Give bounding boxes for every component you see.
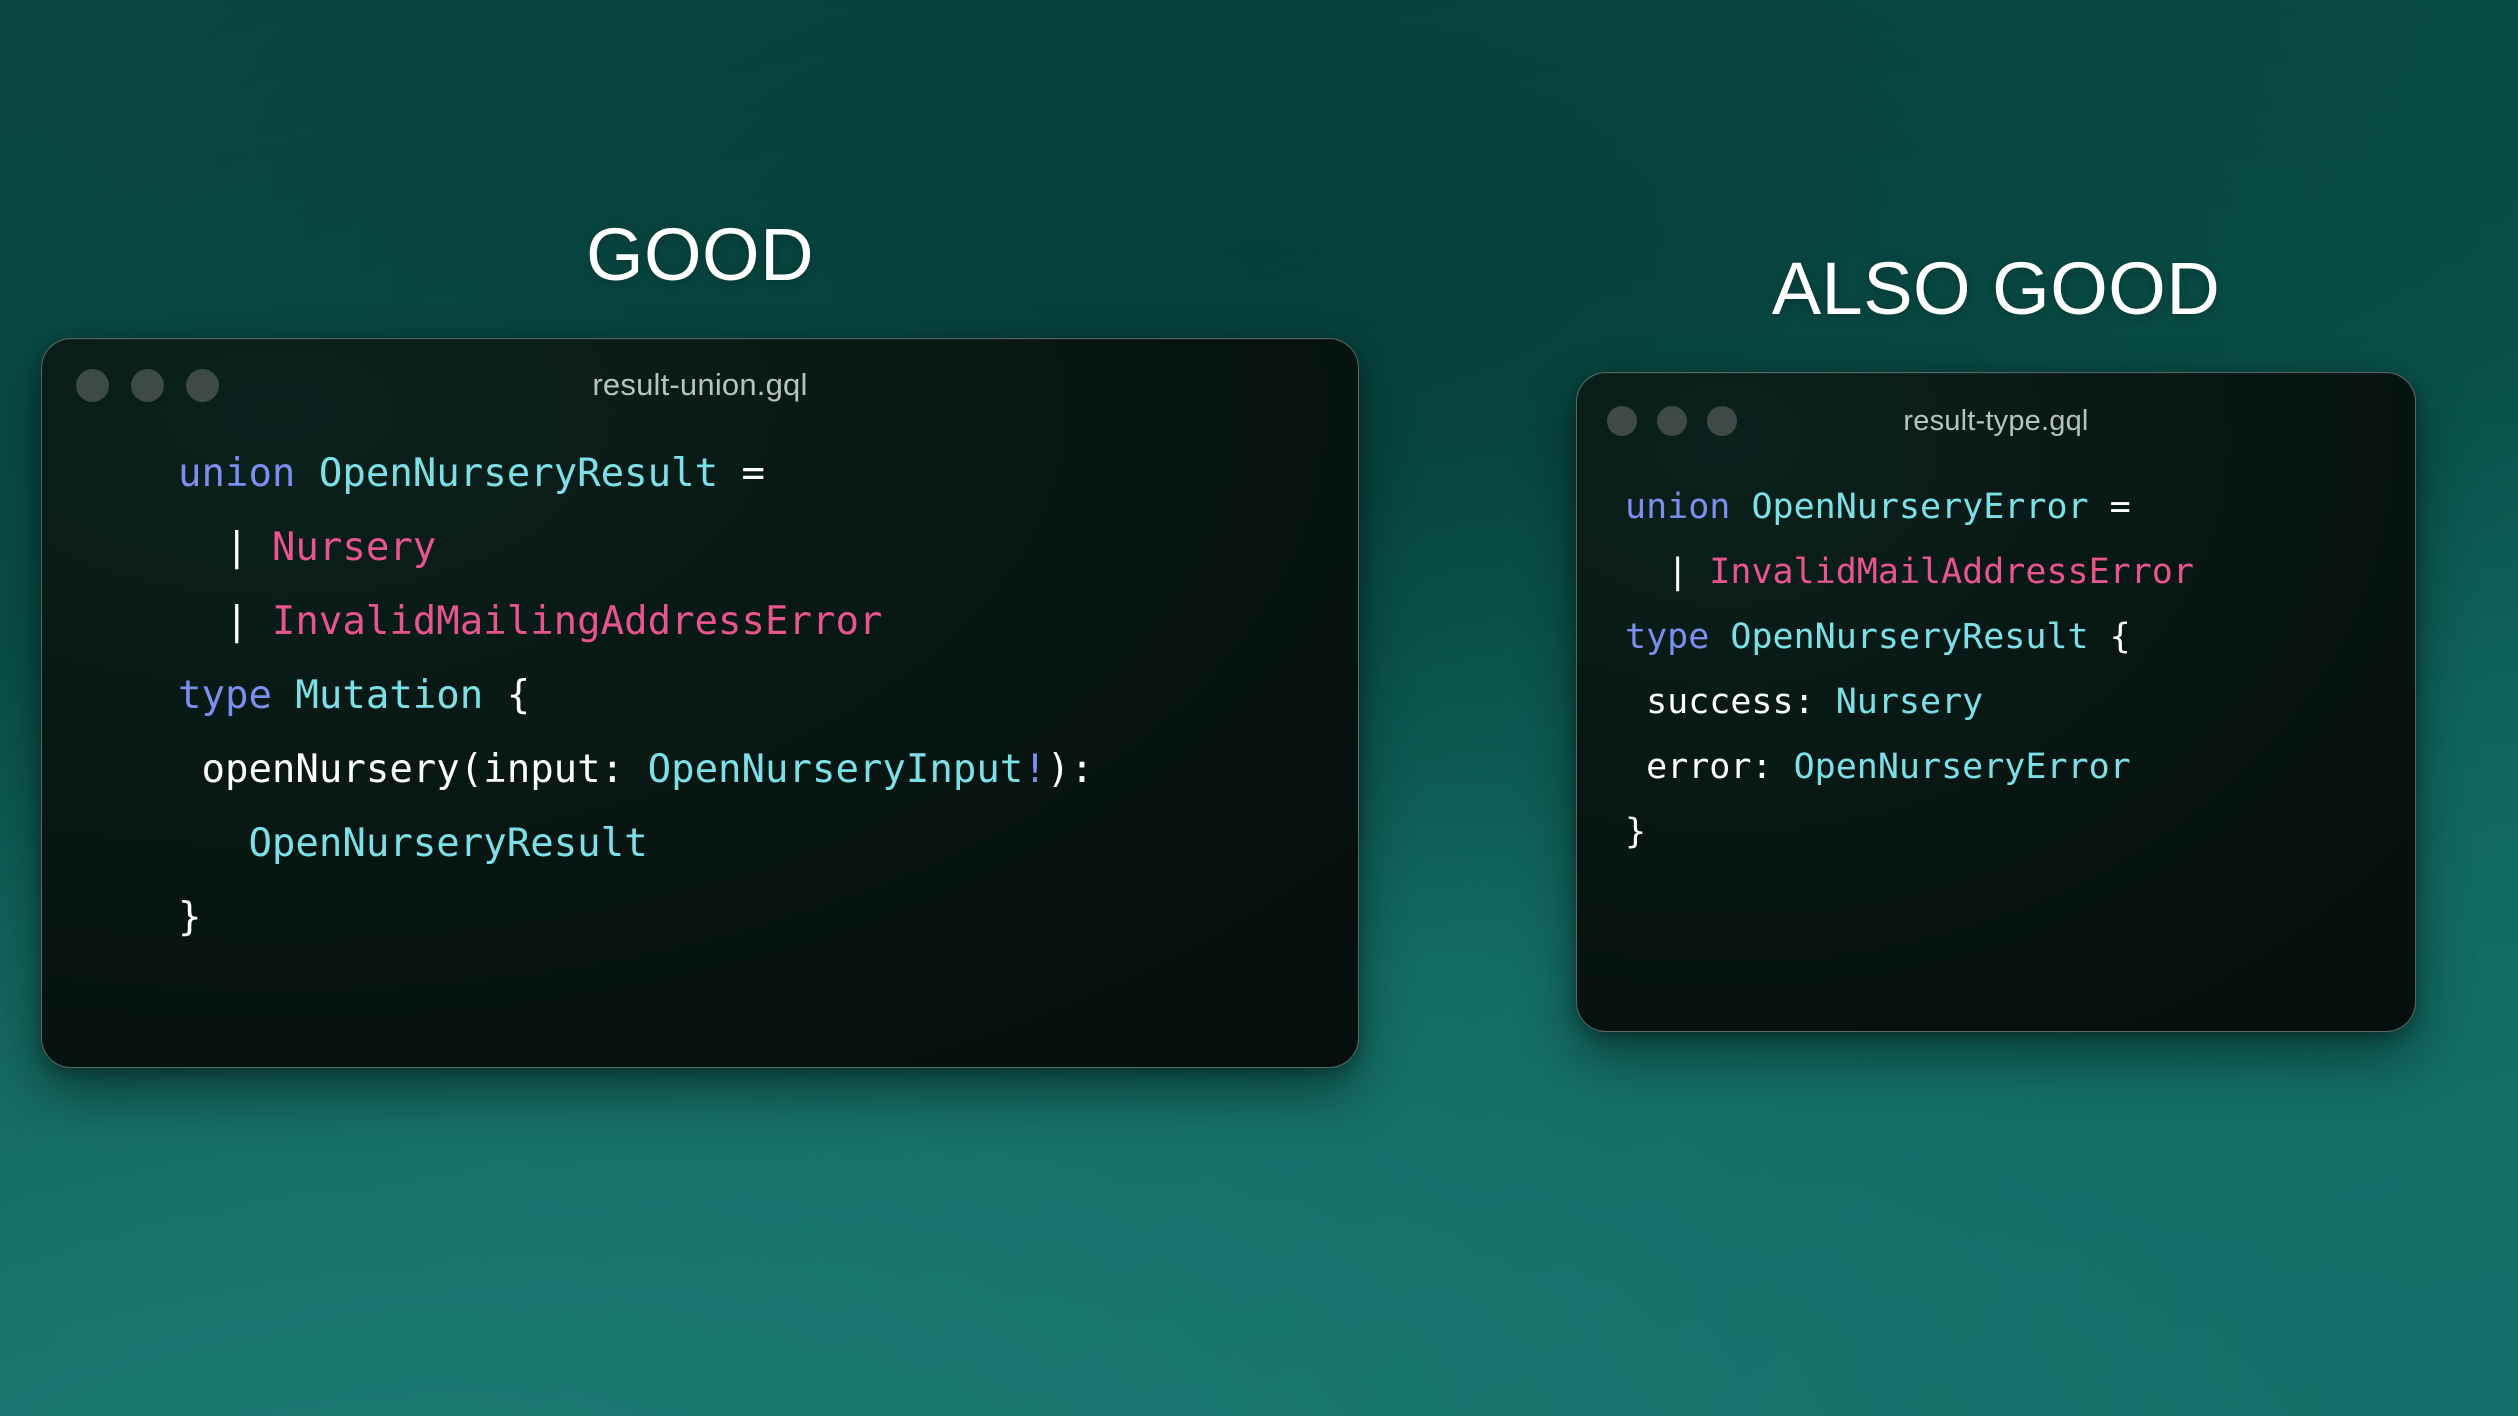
panel-also-good: ALSO GOOD result-type.gql union OpenNurs… bbox=[1576, 252, 2416, 1032]
code-token-bang: ! bbox=[1023, 747, 1046, 792]
code-token-punctuation: } bbox=[1625, 812, 1646, 852]
code-window-good-titlebar: result-union.gql bbox=[42, 339, 1358, 431]
code-line: | Nursery bbox=[178, 511, 1324, 585]
code-window-good: result-union.gql union OpenNurseryResult… bbox=[41, 338, 1359, 1068]
code-token-type_name: Mutation bbox=[295, 673, 483, 718]
code-line: union OpenNurseryError = bbox=[1625, 475, 2381, 540]
code-window-also-good: result-type.gql union OpenNurseryError =… bbox=[1576, 372, 2416, 1032]
window-maximize-icon[interactable] bbox=[186, 369, 219, 402]
code-line: union OpenNurseryResult = bbox=[178, 437, 1324, 511]
panel-good: GOOD result-union.gql union OpenNurseryR… bbox=[80, 218, 1320, 1068]
code-token-type_name: OpenNurseryResult bbox=[319, 451, 718, 496]
code-token-union_member: InvalidMailAddressError bbox=[1709, 552, 2194, 592]
code-token-punctuation: error: bbox=[1625, 747, 1794, 787]
code-token-punctuation: = bbox=[2089, 487, 2152, 527]
code-token-punctuation: { bbox=[2089, 617, 2131, 657]
code-line: OpenNurseryResult bbox=[178, 807, 1324, 881]
panel-good-heading: GOOD bbox=[586, 218, 814, 292]
code-line: success: Nursery bbox=[1625, 670, 2381, 735]
code-token-punctuation: success: bbox=[1625, 682, 1836, 722]
code-line: type Mutation { bbox=[178, 659, 1324, 733]
code-token-type_name: Nursery bbox=[1836, 682, 1984, 722]
traffic-lights-also-good bbox=[1607, 406, 1737, 436]
code-token-keyword: type bbox=[1625, 617, 1709, 657]
code-token-punctuation: | bbox=[178, 599, 272, 644]
code-token-type_name: OpenNurseryError bbox=[1751, 487, 2088, 527]
code-token-union_member: InvalidMailingAddressError bbox=[272, 599, 882, 644]
code-token-punctuation bbox=[1730, 487, 1751, 527]
code-token-punctuation: = bbox=[718, 451, 788, 496]
window-minimize-icon[interactable] bbox=[1657, 406, 1687, 436]
code-token-keyword: type bbox=[178, 673, 272, 718]
code-line: } bbox=[178, 881, 1324, 955]
code-token-punctuation: | bbox=[178, 525, 272, 570]
window-maximize-icon[interactable] bbox=[1707, 406, 1737, 436]
code-block-good: union OpenNurseryResult = | Nursery | In… bbox=[42, 437, 1358, 955]
traffic-lights-good bbox=[76, 369, 219, 402]
code-token-punctuation: openNursery(input: bbox=[178, 747, 648, 792]
code-line: } bbox=[1625, 800, 2381, 865]
code-line: | InvalidMailingAddressError bbox=[178, 585, 1324, 659]
code-line: type OpenNurseryResult { bbox=[1625, 605, 2381, 670]
code-line: error: OpenNurseryError bbox=[1625, 735, 2381, 800]
code-line: | InvalidMailAddressError bbox=[1625, 540, 2381, 605]
code-token-punctuation: ): bbox=[1047, 747, 1094, 792]
code-token-union_member: Nursery bbox=[272, 525, 436, 570]
code-token-keyword: union bbox=[178, 451, 295, 496]
code-token-punctuation bbox=[178, 821, 248, 866]
code-token-type_name: OpenNurseryResult bbox=[1730, 617, 2088, 657]
code-token-punctuation bbox=[272, 673, 295, 718]
code-token-punctuation bbox=[295, 451, 318, 496]
window-minimize-icon[interactable] bbox=[131, 369, 164, 402]
window-close-icon[interactable] bbox=[1607, 406, 1637, 436]
code-token-type_name: OpenNurseryResult bbox=[248, 821, 647, 866]
code-block-also-good: union OpenNurseryError = | InvalidMailAd… bbox=[1577, 475, 2415, 865]
window-close-icon[interactable] bbox=[76, 369, 109, 402]
code-line: openNursery(input: OpenNurseryInput!): bbox=[178, 733, 1324, 807]
code-token-keyword: union bbox=[1625, 487, 1730, 527]
code-token-type_name: OpenNurseryInput bbox=[648, 747, 1024, 792]
code-token-punctuation: | bbox=[1625, 552, 1709, 592]
code-token-punctuation: { bbox=[483, 673, 530, 718]
code-window-also-good-titlebar: result-type.gql bbox=[1577, 373, 2415, 469]
code-token-type_name: OpenNurseryError bbox=[1794, 747, 2131, 787]
panel-also-good-heading: ALSO GOOD bbox=[1772, 252, 2221, 326]
code-token-punctuation bbox=[1709, 617, 1730, 657]
code-token-punctuation: } bbox=[178, 895, 201, 940]
code-window-good-filename: result-union.gql bbox=[42, 367, 1358, 403]
